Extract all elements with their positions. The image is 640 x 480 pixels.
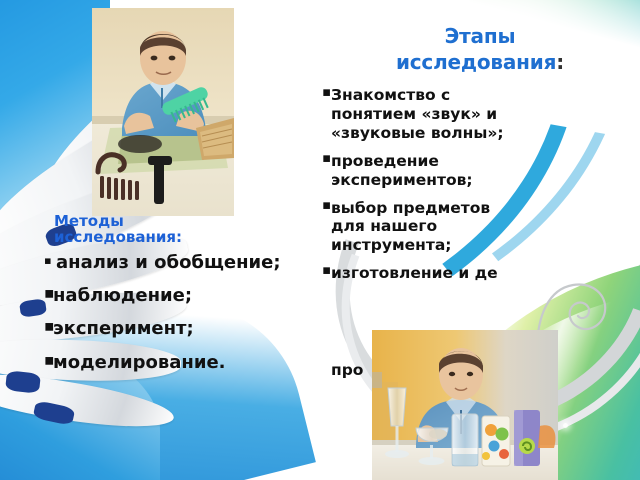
slide-canvas: Этапы исследования: Знакомство с понятие… (0, 0, 640, 480)
methods-heading: Методы исследования: (54, 214, 284, 246)
title-line-2-wrap: исследования: (330, 50, 630, 76)
photo-boy-with-glasses (372, 330, 558, 480)
title-line-1: Этапы (330, 24, 630, 50)
list-item-clipped-tail: про (331, 361, 363, 380)
methods-list: анализ и обобщение; наблюдение; эксперим… (44, 252, 334, 385)
stages-list: Знакомство с понятием «звук» и «звуковые… (322, 86, 522, 292)
blue-accent-5 (33, 400, 76, 426)
list-item: Знакомство с понятием «звук» и «звуковые… (322, 86, 522, 143)
blue-accent-3 (19, 298, 47, 317)
blue-accent-4 (5, 370, 41, 393)
list-item: анализ и обобщение; (44, 252, 334, 273)
title-line-2: исследования (396, 50, 556, 74)
list-item: выбор предметов для нашего инструмента; (322, 199, 522, 256)
list-item: моделирование. (44, 352, 334, 373)
methods-heading-line-2: исследования: (54, 230, 284, 246)
list-item-clipped: изготовление и де (322, 264, 522, 283)
list-item: проведение экспериментов; (322, 152, 522, 190)
list-item: наблюдение; (44, 285, 334, 306)
photo-boy-with-comb (92, 8, 234, 216)
title-colon: : (556, 50, 564, 74)
light-dot (563, 423, 568, 428)
right-block-title: Этапы исследования: (330, 24, 630, 75)
list-item: эксперимент; (44, 318, 334, 339)
